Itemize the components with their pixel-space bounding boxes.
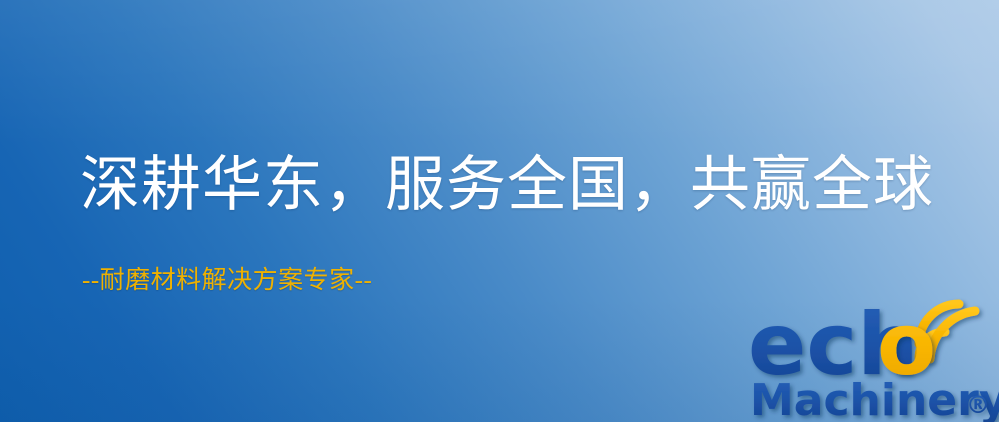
signal-arc-outer [930,311,975,359]
logo-graphic: ech o Machinery ® [748,300,999,422]
hero-banner: 深耕华东，服务全国，共赢全球 --耐磨材料解决方案专家-- [0,0,999,422]
banner-subtitle: --耐磨材料解决方案专家-- [82,268,372,293]
echo-machinery-logo[interactable]: ech o Machinery ® [748,300,999,422]
banner-headline: 深耕华东，服务全国，共赢全球 [80,155,934,215]
registered-trademark-icon: ® [966,391,990,419]
logo-text-machinery: Machinery [750,375,999,422]
